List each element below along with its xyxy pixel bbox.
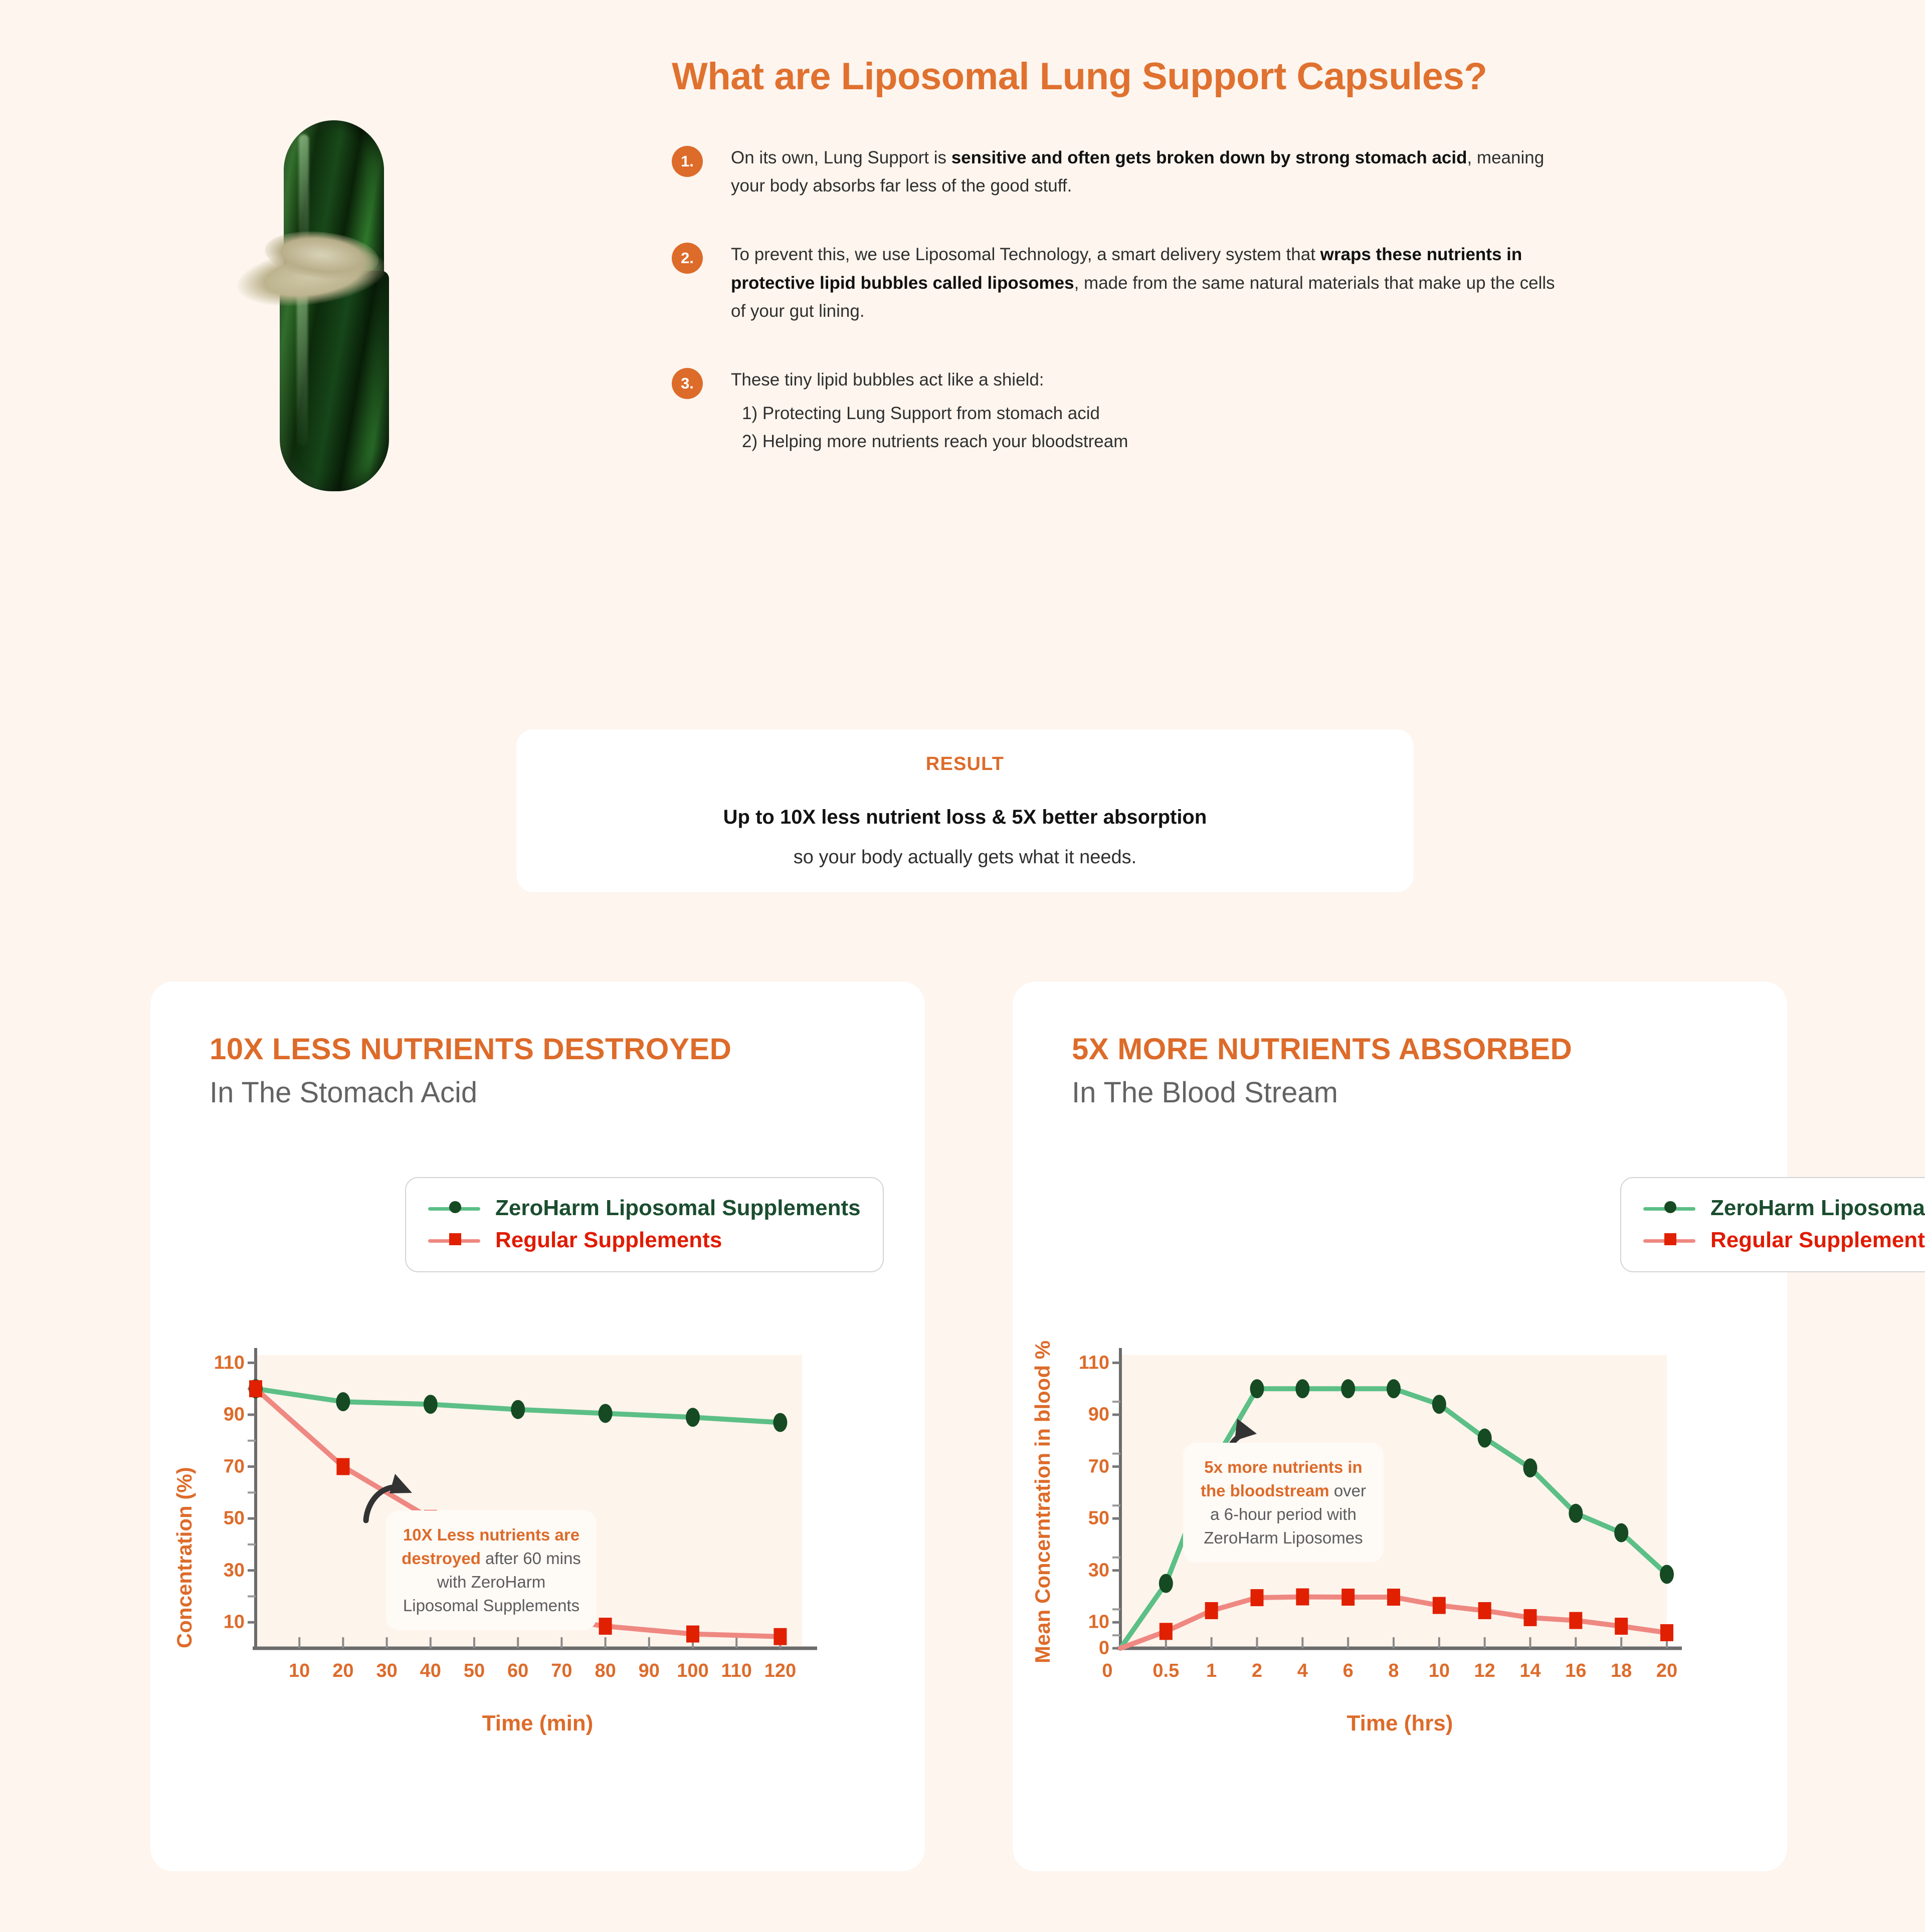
y-axis-title: Concentration (%) [172,1467,197,1648]
x-axis-tick-label: 30 [376,1660,397,1682]
step-number-badge: 3. [672,368,703,399]
x-axis-tick-label: 6 [1343,1660,1354,1682]
x-axis-tick-label: 90 [639,1660,660,1682]
charts-row: 10X LESS NUTRIENTS DESTROYED In The Stom… [0,982,1925,1879]
hero-text-column: What are Liposomal Lung Support Capsules… [672,55,1579,496]
result-subline: so your body actually gets what it needs… [794,847,1136,868]
y-axis-tick-label: 110 [1055,1352,1109,1374]
x-axis-tick-label: 80 [595,1660,616,1682]
legend-item-regular[interactable]: Regular Supplements [1643,1224,1925,1256]
legend-label-zeroharm: ZeroHarm Liposomal Supplements [1710,1196,1925,1221]
x-axis-tick-label: 18 [1611,1660,1632,1682]
legend-swatch-regular [1643,1238,1695,1243]
step-text: On its own, Lung Support is sensitive an… [731,144,1573,201]
x-axis-tick-label: 110 [721,1660,752,1682]
page-title: What are Liposomal Lung Support Capsules… [672,55,1514,99]
result-label: RESULT [926,753,1004,775]
chart-svg [1013,982,1787,1871]
y-axis-tick-label: 30 [1055,1560,1109,1581]
legend-item-zeroharm[interactable]: ZeroHarm Liposomal Supplements [428,1192,861,1224]
chart-plot-blood-stream: 0103050709011000.512468101214161820Mean … [1013,982,1787,1871]
step-number-badge: 2. [672,243,703,274]
y-axis-tick-label: 50 [190,1508,245,1529]
x-axis-tick-label: 120 [764,1660,796,1682]
x-axis-tick-label: 12 [1474,1660,1495,1682]
x-axis-title: Time (hrs) [1013,1711,1787,1736]
chart-legend: ZeroHarm Liposomal Supplements Regular S… [1620,1177,1925,1272]
y-axis-tick-label: 50 [1055,1508,1109,1529]
legend-label-regular: Regular Supplements [495,1228,722,1253]
x-axis-title: Time (min) [150,1711,925,1736]
chart-legend: ZeroHarm Liposomal Supplements Regular S… [405,1177,884,1272]
chart-card-stomach-acid: 10X LESS NUTRIENTS DESTROYED In The Stom… [150,982,925,1871]
result-headline: Up to 10X less nutrient loss & 5X better… [723,806,1207,829]
y-axis-tick-label: 90 [190,1404,245,1426]
x-axis-tick-label: 8 [1388,1660,1399,1682]
legend-label-regular: Regular Supplements [1710,1228,1925,1253]
y-axis-tick-label: 10 [1055,1612,1109,1633]
x-axis-tick-label: 0.5 [1152,1660,1179,1682]
x-axis-tick-label: 40 [420,1660,441,1682]
legend-label-zeroharm: ZeroHarm Liposomal Supplements [495,1196,861,1221]
chart-heading: 10X LESS NUTRIENTS DESTROYED [210,1032,731,1066]
step-number-badge: 1. [672,146,703,177]
step-sub-item: 1) Protecting Lung Support from stomach … [731,400,1579,428]
legend-swatch-regular [428,1238,480,1243]
chart-heading: 5X MORE NUTRIENTS ABSORBED [1072,1032,1572,1066]
step-text: These tiny lipid bubbles act like a shie… [731,366,1573,395]
x-axis-tick-label: 100 [677,1660,708,1682]
x-axis-tick-label: 0 [1102,1660,1112,1682]
legend-swatch-zeroharm [1643,1206,1695,1211]
y-axis-tick-label: 70 [190,1456,245,1477]
x-axis-tick-label: 20 [332,1660,353,1682]
x-axis-tick-label: 2 [1252,1660,1262,1682]
step-text: To prevent this, we use Liposomal Techno… [731,241,1573,326]
x-axis-tick-label: 70 [551,1660,572,1682]
y-axis-tick-label: 110 [190,1352,245,1374]
chart-plot-stomach-acid: 1030507090110102030405060708090100110120… [150,982,925,1871]
x-axis-tick-label: 10 [289,1660,310,1682]
steps-list: 1.On its own, Lung Support is sensitive … [672,144,1579,457]
chart-card-blood-stream: 5X MORE NUTRIENTS ABSORBED In The Blood … [1013,982,1787,1871]
legend-item-regular[interactable]: Regular Supplements [428,1224,861,1256]
hero-section: What are Liposomal Lung Support Capsules… [0,0,1925,702]
step-sub-list: 1) Protecting Lung Support from stomach … [731,400,1579,456]
x-axis-tick-label: 14 [1519,1660,1541,1682]
y-axis-tick-label: 30 [190,1560,245,1581]
step-item: 3.These tiny lipid bubbles act like a sh… [672,366,1579,456]
y-axis-tick-label: 10 [190,1612,245,1633]
step-item: 2.To prevent this, we use Liposomal Tech… [672,241,1579,326]
chart-annotation-callout: 5x more nutrients in the bloodstream ove… [1183,1443,1384,1563]
x-axis-tick-label: 4 [1297,1660,1308,1682]
legend-item-zeroharm[interactable]: ZeroHarm Liposomal Supplements [1643,1192,1925,1224]
legend-swatch-zeroharm [428,1206,480,1211]
y-axis-tick-label: 90 [1055,1404,1109,1426]
x-axis-tick-label: 16 [1565,1660,1586,1682]
step-item: 1.On its own, Lung Support is sensitive … [672,144,1579,201]
chart-subheading: In The Blood Stream [1072,1076,1338,1109]
y-axis-title: Mean Concerntration in blood % [1031,1340,1055,1663]
x-axis-tick-label: 1 [1206,1660,1217,1682]
chart-subheading: In The Stomach Acid [210,1076,477,1109]
x-axis-tick-label: 20 [1656,1660,1677,1682]
chart-svg [150,982,925,1871]
step-sub-item: 2) Helping more nutrients reach your blo… [731,428,1579,456]
y-axis-tick-label: 0 [1055,1638,1109,1659]
result-card: RESULT Up to 10X less nutrient loss & 5X… [516,729,1414,892]
capsule-image [236,108,436,504]
y-axis-tick-label: 70 [1055,1456,1109,1477]
x-axis-tick-label: 50 [464,1660,485,1682]
x-axis-tick-label: 60 [507,1660,528,1682]
x-axis-tick-label: 10 [1429,1660,1450,1682]
chart-annotation-callout: 10X Less nutrients are destroyed after 6… [386,1510,597,1630]
